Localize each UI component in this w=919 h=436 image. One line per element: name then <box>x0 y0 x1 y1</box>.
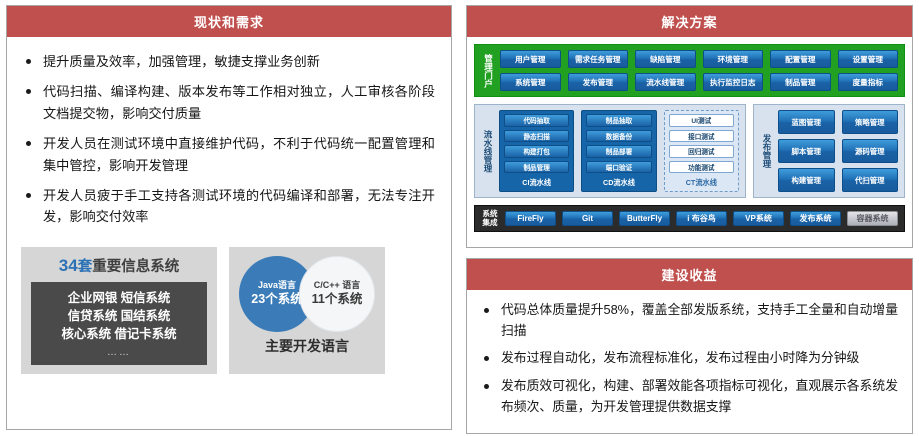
list-item: 开发人员疲于手工支持各测试环境的代码编译和部署，无法专注开发，影响交付效率 <box>23 185 435 228</box>
current-status-bullet-list: 提升质量及效率，加强管理，敏捷支撑业务创新 代码扫描、编译构建、版本发布等工作相… <box>7 37 451 241</box>
portal-button[interactable]: 系统管理 <box>500 73 561 91</box>
venn-java-label: Java语言 <box>258 279 296 292</box>
release-management-group: 发布管理 蓝图管理 策略管理 脚本管理 源码管理 构建管理 代扫管理 <box>753 104 905 198</box>
portal-button[interactable]: 流水线管理 <box>635 73 696 91</box>
pipeline-step[interactable]: 代码抽取 <box>504 114 569 127</box>
pipeline-column-ct: UI测试 接口测试 回归测试 功能测试 CT流水线 <box>664 110 739 192</box>
release-button[interactable]: 策略管理 <box>842 110 899 134</box>
systems-count-unit: 套 <box>78 259 93 275</box>
venn-circle-cpp: C/C++ 语言 11个系统 <box>299 256 375 332</box>
venn-cpp-value: 11个系统 <box>312 291 363 309</box>
stats-strip: 34套重要信息系统 企业网银 短信系统 信贷系统 国结系统 核心系统 借记卡系统… <box>21 247 437 374</box>
portal-button[interactable]: 发布管理 <box>568 73 629 91</box>
pipeline-step[interactable]: 回归测试 <box>669 145 734 158</box>
current-status-body: 提升质量及效率，加强管理，敏捷支撑业务创新 代码扫描、编译构建、版本发布等工作相… <box>7 37 451 429</box>
benefits-panel: 建设收益 代码总体质量提升58%，覆盖全部发版系统，支持手工全量和自动增量扫描 … <box>466 258 913 434</box>
venn-cpp-label: C/C++ 语言 <box>314 279 361 292</box>
integration-item[interactable]: 发布系统 <box>790 211 841 226</box>
pipeline-columns: 代码抽取 静态扫描 构建打包 制品管理 CI流水线 制品抽取 数据备份 制品部署 <box>499 110 739 192</box>
integration-item[interactable]: VP系统 <box>733 211 784 226</box>
pipeline-management-label: 流水线管理 <box>481 110 494 192</box>
release-button[interactable]: 蓝图管理 <box>778 110 835 134</box>
benefits-body: 代码总体质量提升58%，覆盖全部发版系统，支持手工全量和自动增量扫描 发布过程自… <box>467 290 912 433</box>
system-integration-label: 系统 集成 <box>481 210 499 227</box>
current-status-panel: 现状和需求 提升质量及效率，加强管理，敏捷支撑业务创新 代码扫描、编译构建、版本… <box>6 5 452 430</box>
pipeline-step[interactable]: 端口验证 <box>586 161 651 174</box>
list-item: 代码扫描、编译构建、版本发布等工作相对独立，人工审核各阶段文档提交物，影响交付质… <box>23 81 435 124</box>
venn-java-value: 23个系统 <box>251 291 302 309</box>
systems-name-box: 企业网银 短信系统 信贷系统 国结系统 核心系统 借记卡系统 …… <box>31 282 207 365</box>
pipeline-release-row: 流水线管理 代码抽取 静态扫描 构建打包 制品管理 CI流水线 制品抽取 <box>474 104 905 198</box>
list-item: 开发人员在测试环境中直接维护代码，不利于代码统一配置管理和集中管控，影响开发管理 <box>23 133 435 176</box>
release-button[interactable]: 构建管理 <box>778 168 835 192</box>
pipeline-step[interactable]: 制品抽取 <box>586 114 651 127</box>
systems-count: 34 <box>59 256 78 275</box>
release-button[interactable]: 代扫管理 <box>842 168 899 192</box>
pipeline-column-name: CI流水线 <box>504 176 569 188</box>
portal-button[interactable]: 用户管理 <box>500 50 561 68</box>
systems-card-title: 34套重要信息系统 <box>31 255 207 276</box>
pipeline-step[interactable]: 制品管理 <box>504 161 569 174</box>
integration-item[interactable]: ButterFly <box>619 211 670 226</box>
portal-button[interactable]: 环境管理 <box>703 50 764 68</box>
solution-body: 管理门户 用户管理 需求任务管理 缺陷管理 环境管理 配置管理 设置管理 系统管… <box>467 37 912 247</box>
management-portal-group: 管理门户 用户管理 需求任务管理 缺陷管理 环境管理 配置管理 设置管理 系统管… <box>474 44 905 97</box>
release-button[interactable]: 脚本管理 <box>778 139 835 163</box>
pipeline-management-group: 流水线管理 代码抽取 静态扫描 构建打包 制品管理 CI流水线 制品抽取 <box>474 104 746 198</box>
integration-item[interactable]: Git <box>562 211 613 226</box>
release-button[interactable]: 源码管理 <box>842 139 899 163</box>
portal-button[interactable]: 设置管理 <box>838 50 899 68</box>
systems-row: 信贷系统 国结系统 <box>37 308 201 326</box>
portal-button[interactable]: 配置管理 <box>770 50 831 68</box>
integration-item[interactable]: i 布谷鸟 <box>676 211 727 226</box>
systems-row: 企业网银 短信系统 <box>37 290 201 308</box>
pipeline-step[interactable]: 静态扫描 <box>504 130 569 143</box>
pipeline-column-ci: 代码抽取 静态扫描 构建打包 制品管理 CI流水线 <box>499 110 574 192</box>
system-integration-label-line2: 集成 <box>482 219 497 228</box>
language-card-caption: 主要开发语言 <box>265 336 349 356</box>
portal-button[interactable]: 制品管理 <box>770 73 831 91</box>
pipeline-step[interactable]: 制品部署 <box>586 145 651 158</box>
list-item: 代码总体质量提升58%，覆盖全部发版系统，支持手工全量和自动增量扫描 <box>481 300 898 341</box>
list-item: 发布质效可视化，构建、部署效能各项指标可视化，直观展示各系统发布频次、质量，为开… <box>481 376 898 417</box>
portal-button[interactable]: 需求任务管理 <box>568 50 629 68</box>
system-integration-items: FireFly Git ButterFly i 布谷鸟 VP系统 发布系统 容器… <box>505 211 898 226</box>
integration-item[interactable]: FireFly <box>505 211 556 226</box>
list-item: 发布过程自动化，发布流程标准化，发布过程由小时降为分钟级 <box>481 348 898 369</box>
systems-title-rest: 重要信息系统 <box>92 259 179 275</box>
integration-item[interactable]: 容器系统 <box>847 211 898 226</box>
management-portal-label: 管理门户 <box>481 50 495 91</box>
release-management-buttons: 蓝图管理 策略管理 脚本管理 源码管理 构建管理 代扫管理 <box>778 110 898 192</box>
pipeline-step[interactable]: 数据备份 <box>586 130 651 143</box>
benefits-title: 建设收益 <box>467 259 912 290</box>
current-status-title: 现状和需求 <box>7 6 451 37</box>
portal-button[interactable]: 度量指标 <box>838 73 899 91</box>
systems-ellipsis: …… <box>37 347 201 358</box>
pipeline-column-name: CD流水线 <box>586 176 651 188</box>
portal-button[interactable]: 缺陷管理 <box>635 50 696 68</box>
release-management-label: 发布管理 <box>760 110 773 192</box>
management-portal-buttons: 用户管理 需求任务管理 缺陷管理 环境管理 配置管理 设置管理 系统管理 发布管… <box>500 50 898 91</box>
pipeline-column-name: CT流水线 <box>669 176 734 188</box>
systems-card: 34套重要信息系统 企业网银 短信系统 信贷系统 国结系统 核心系统 借记卡系统… <box>21 247 217 374</box>
benefits-bullet-list: 代码总体质量提升58%，覆盖全部发版系统，支持手工全量和自动增量扫描 发布过程自… <box>467 290 912 433</box>
system-integration-group: 系统 集成 FireFly Git ButterFly i 布谷鸟 VP系统 发… <box>474 205 905 232</box>
pipeline-step[interactable]: UI测试 <box>669 114 734 127</box>
list-item: 提升质量及效率，加强管理，敏捷支撑业务创新 <box>23 51 435 72</box>
pipeline-step[interactable]: 构建打包 <box>504 145 569 158</box>
solution-panel: 解决方案 管理门户 用户管理 需求任务管理 缺陷管理 环境管理 配置管理 设置管… <box>466 5 913 248</box>
left-column: 现状和需求 提升质量及效率，加强管理，敏捷支撑业务创新 代码扫描、编译构建、版本… <box>6 5 452 430</box>
language-card: Java语言 23个系统 C/C++ 语言 11个系统 主要开发语言 <box>229 247 385 374</box>
slide-root: 现状和需求 提升质量及效率，加强管理，敏捷支撑业务创新 代码扫描、编译构建、版本… <box>0 0 919 436</box>
solution-title: 解决方案 <box>467 6 912 37</box>
pipeline-step[interactable]: 接口测试 <box>669 130 734 143</box>
pipeline-step[interactable]: 功能测试 <box>669 161 734 174</box>
right-column: 解决方案 管理门户 用户管理 需求任务管理 缺陷管理 环境管理 配置管理 设置管… <box>466 5 913 430</box>
pipeline-column-cd: 制品抽取 数据备份 制品部署 端口验证 CD流水线 <box>581 110 656 192</box>
systems-row: 核心系统 借记卡系统 <box>37 326 201 344</box>
language-venn-diagram: Java语言 23个系统 C/C++ 语言 11个系统 <box>233 256 381 332</box>
portal-button[interactable]: 执行监控日志 <box>703 73 764 91</box>
